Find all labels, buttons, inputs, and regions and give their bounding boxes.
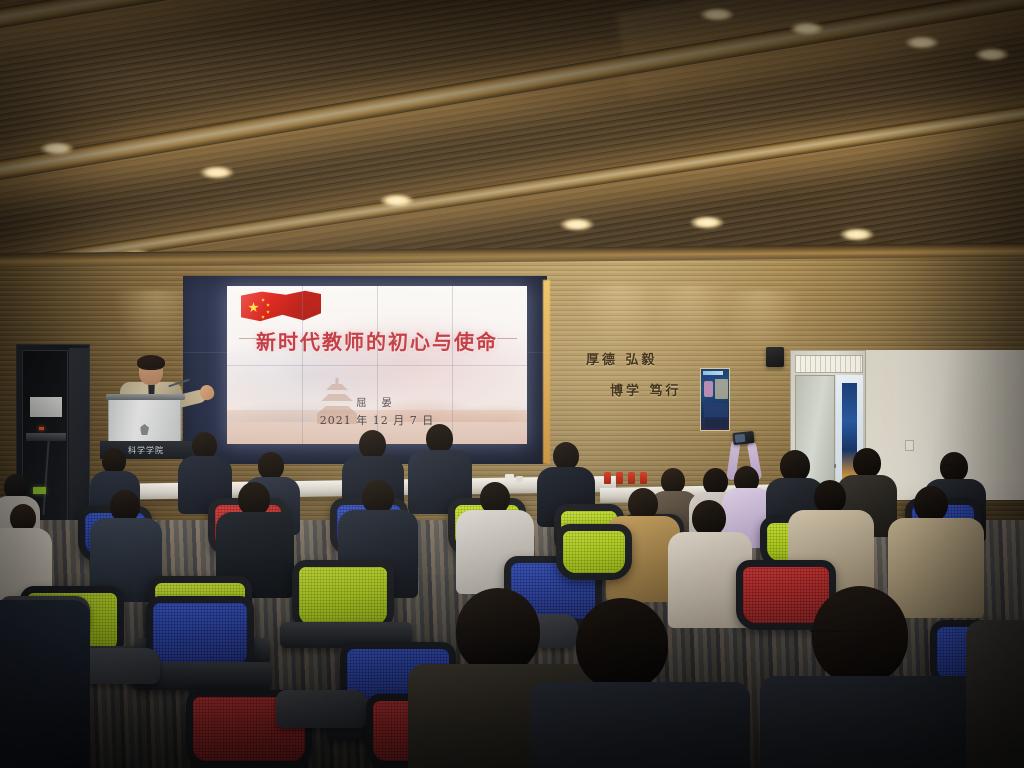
table-cup-2 bbox=[516, 476, 523, 482]
presenter-glasses bbox=[142, 368, 161, 373]
rack-status-led bbox=[39, 427, 44, 430]
rack-shelf bbox=[26, 433, 66, 441]
smartphone[interactable] bbox=[732, 431, 754, 445]
chair-mesh bbox=[153, 603, 247, 667]
video-wall-display[interactable]: 新时代教师的初心与使命 屈 晏 2021 年 12 月 7 日 bbox=[227, 286, 527, 444]
ceiling-spot-7 bbox=[380, 194, 414, 207]
tile-seam-h1 bbox=[227, 365, 527, 366]
rack-green-indicator bbox=[33, 487, 46, 494]
table-cup-1 bbox=[505, 474, 514, 482]
audience-glasses-2 bbox=[810, 630, 866, 634]
temple-roof-1 bbox=[322, 384, 352, 390]
podium-top-edge bbox=[106, 394, 185, 400]
podium-emblem bbox=[140, 424, 149, 435]
rack-label-panel bbox=[30, 397, 62, 417]
backdrop-edge-light bbox=[543, 280, 550, 464]
ceiling-spot-9 bbox=[690, 216, 724, 229]
phone-screen bbox=[735, 434, 746, 443]
chair-green-f4[interactable] bbox=[556, 524, 632, 580]
ceiling-spot-6 bbox=[200, 166, 234, 179]
poster-block-1 bbox=[704, 381, 713, 397]
rack-side-panel bbox=[69, 348, 89, 524]
poster-header-band bbox=[703, 371, 723, 375]
poster-block-3 bbox=[704, 403, 728, 417]
ceiling-spot-3 bbox=[905, 36, 939, 49]
ceiling-spot-10 bbox=[840, 228, 874, 241]
table-item-3 bbox=[628, 472, 635, 484]
poster-block-4 bbox=[705, 419, 727, 428]
chair-tablet-arm-f3[interactable] bbox=[276, 690, 368, 728]
table-item-1 bbox=[604, 472, 611, 484]
flag-shading bbox=[241, 290, 321, 330]
podium-sign-text: 科学学院 bbox=[128, 445, 164, 456]
poster-block-2 bbox=[715, 379, 728, 399]
ceiling-spot-4 bbox=[975, 48, 1009, 61]
chair-mesh bbox=[563, 531, 625, 573]
lecture-hall-photo: 厚德 弘毅 博学 笃行 bbox=[0, 0, 1024, 768]
chair-back bbox=[556, 524, 632, 580]
audience-glasses-1 bbox=[942, 464, 966, 468]
ceiling-spot-8 bbox=[560, 218, 594, 231]
wall-slogan-line-2: 博学 笃行 bbox=[610, 380, 682, 399]
wall-speaker-box bbox=[766, 347, 784, 367]
ceiling-spot-1 bbox=[700, 8, 734, 21]
table-item-4 bbox=[640, 472, 647, 484]
chinese-flag-icon bbox=[241, 290, 321, 330]
wall-slogan-line-1: 厚德 弘毅 bbox=[586, 349, 658, 368]
table-item-2 bbox=[616, 472, 623, 484]
ceiling-spot-2 bbox=[790, 22, 824, 35]
ceiling-spot-5 bbox=[40, 142, 74, 155]
wall-outlet bbox=[905, 440, 914, 451]
wall-poster bbox=[700, 368, 730, 431]
door-transom-window bbox=[795, 355, 863, 373]
chair-mesh bbox=[299, 567, 387, 625]
